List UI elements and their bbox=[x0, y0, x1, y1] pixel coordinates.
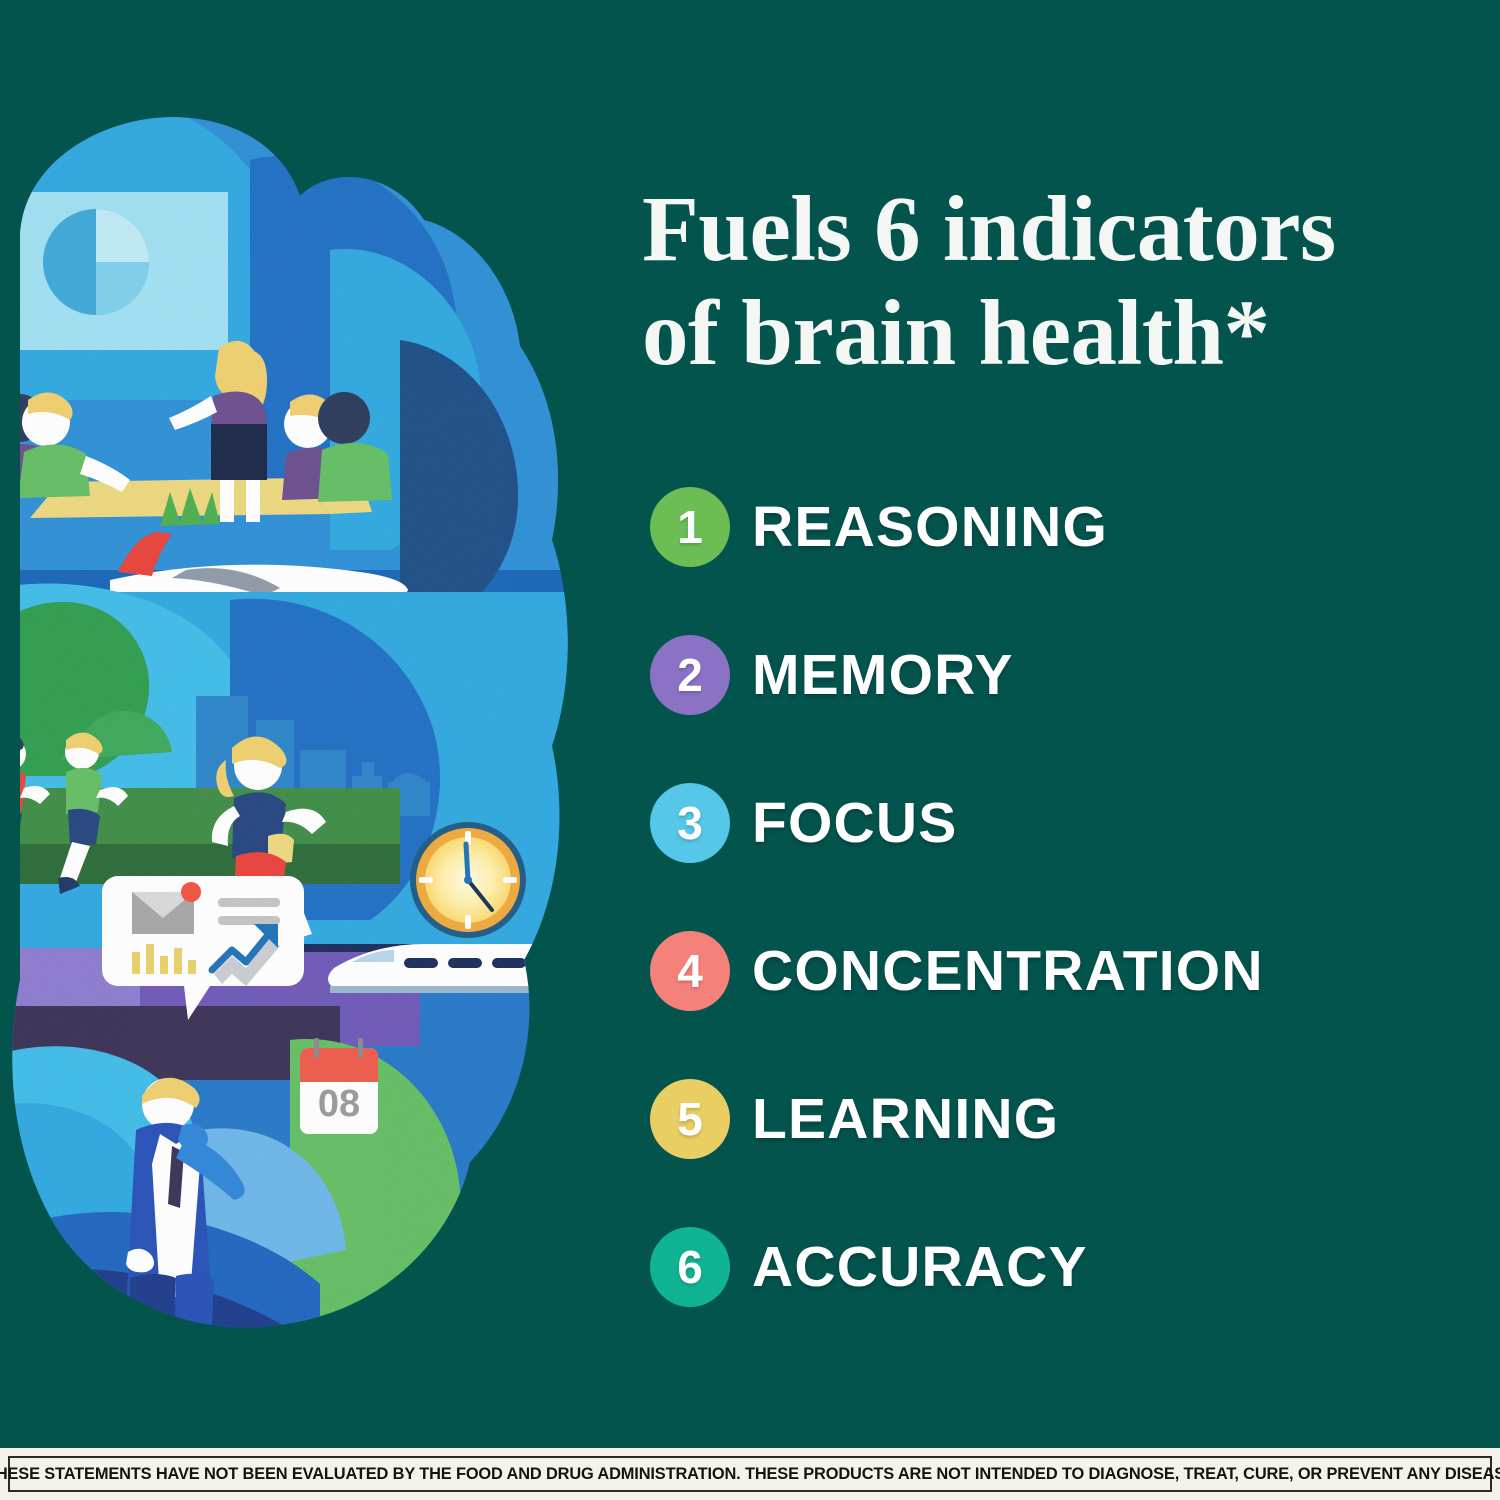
indicator-number-badge: 1 bbox=[650, 487, 730, 567]
brain-scene-group: 08 bbox=[0, 100, 580, 1365]
indicator-label: LEARNING bbox=[752, 1091, 1059, 1148]
disclaimer-box: *THESE STATEMENTS HAVE NOT BEEN EVALUATE… bbox=[8, 1456, 1492, 1492]
page-title-line-1: Fuels 6 indicators bbox=[642, 178, 1336, 281]
indicator-label: MEMORY bbox=[752, 647, 1014, 704]
indicator-row: 3FOCUS bbox=[650, 783, 1450, 863]
brain-health-indicator-list: 1REASONING2MEMORY3FOCUS4CONCENTRATION5LE… bbox=[650, 487, 1450, 1375]
brain-half-silhouette-illustration: 08 bbox=[0, 100, 580, 1365]
indicator-number-badge: 6 bbox=[650, 1227, 730, 1307]
indicator-number-badge: 4 bbox=[650, 931, 730, 1011]
promo-graphic: 08 bbox=[0, 0, 1500, 1500]
indicator-label: CONCENTRATION bbox=[752, 943, 1264, 1000]
page-title: Fuels 6 indicators of brain health* bbox=[642, 178, 1442, 386]
indicator-row: 4CONCENTRATION bbox=[650, 931, 1450, 1011]
indicator-label: REASONING bbox=[752, 499, 1108, 556]
page-title-line-2: of brain health* bbox=[642, 282, 1270, 385]
indicator-number-badge: 3 bbox=[650, 783, 730, 863]
indicator-row: 6ACCURACY bbox=[650, 1227, 1450, 1307]
indicator-row: 5LEARNING bbox=[650, 1079, 1450, 1159]
indicator-number-badge: 2 bbox=[650, 635, 730, 715]
indicator-label: ACCURACY bbox=[752, 1239, 1088, 1296]
indicator-row: 1REASONING bbox=[650, 487, 1450, 567]
disclaimer-text: *THESE STATEMENTS HAVE NOT BEEN EVALUATE… bbox=[0, 1465, 1500, 1484]
indicator-label: FOCUS bbox=[752, 795, 958, 852]
indicator-number-badge: 5 bbox=[650, 1079, 730, 1159]
disclaimer-bar: *THESE STATEMENTS HAVE NOT BEEN EVALUATE… bbox=[0, 1448, 1500, 1500]
indicator-row: 2MEMORY bbox=[650, 635, 1450, 715]
